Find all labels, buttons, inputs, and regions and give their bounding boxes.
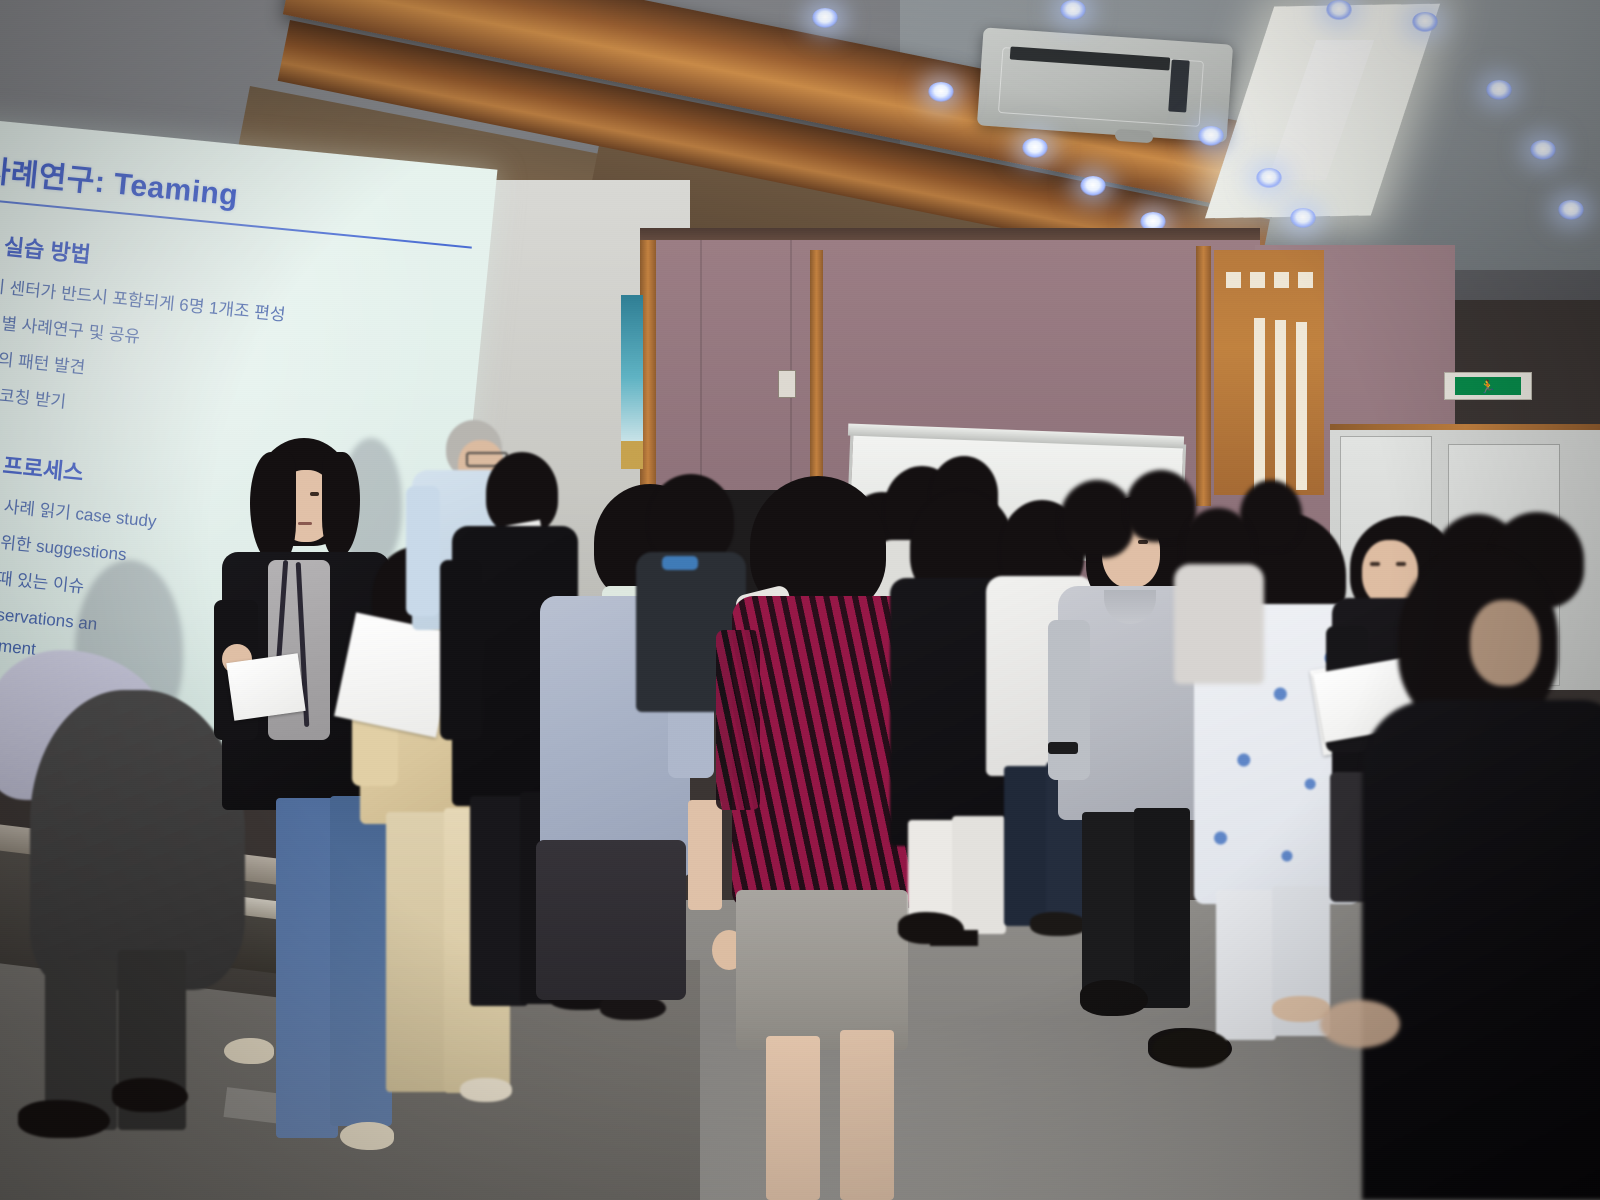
person-mouth	[298, 522, 312, 525]
ceiling-downlight-icon	[1412, 12, 1438, 32]
shoe-heel	[930, 930, 978, 946]
person-trousers	[30, 690, 245, 990]
person-arm	[406, 486, 440, 616]
person-trousers	[1216, 890, 1276, 1040]
person-eye	[1396, 562, 1406, 566]
person-hair	[1060, 480, 1134, 558]
person-leg	[688, 800, 722, 910]
person-trousers	[1134, 808, 1190, 1008]
ceiling-downlight-icon	[1080, 176, 1106, 196]
exit-sign: 🏃	[1444, 372, 1532, 400]
running-man-icon: 🏃	[1480, 380, 1496, 393]
ceiling-downlight-icon	[812, 8, 838, 28]
person-trousers	[386, 812, 448, 1092]
wall-switch-panel[interactable]	[778, 370, 796, 398]
wall-wood-trim-right	[1196, 246, 1211, 506]
person-torso	[1174, 564, 1264, 684]
ceiling-downlight-icon	[928, 82, 954, 102]
person-face	[1470, 600, 1540, 686]
person-jeans	[330, 796, 392, 1126]
ceiling-downlight-icon	[1256, 168, 1282, 188]
handout-paper	[226, 653, 305, 720]
wood-panel-bar	[1275, 320, 1286, 492]
person-shoe	[460, 1078, 512, 1102]
wood-panel-bar	[1296, 322, 1307, 490]
person-leg	[766, 1036, 820, 1200]
teal-banner	[621, 295, 643, 445]
wood-panel-bar	[1254, 318, 1265, 494]
ceiling-downlight-icon	[1022, 138, 1048, 158]
lanyard-icon	[662, 556, 698, 570]
person-leg	[840, 1030, 894, 1200]
person-arm	[440, 560, 482, 740]
person-arm	[1048, 620, 1090, 780]
teal-banner-bottom	[621, 441, 643, 469]
person-shoe	[1080, 980, 1148, 1016]
person-hair	[486, 452, 558, 534]
ceiling-downlight-icon	[1060, 0, 1086, 20]
wood-panel-square	[1250, 272, 1265, 288]
photo-scene: 🏃 사례연구: Teaming 청 실습 방법 가지 센터가 반드시 포함되게 …	[0, 0, 1600, 1200]
person-hand	[1320, 1000, 1400, 1048]
person-skirt	[736, 890, 908, 1050]
exit-sign-green-field: 🏃	[1455, 377, 1521, 395]
person-jeans	[276, 798, 338, 1138]
person-arm	[716, 630, 760, 810]
person-eye	[310, 492, 319, 496]
person-shoe	[340, 1122, 394, 1150]
wood-panel-square	[1226, 272, 1241, 288]
ceiling-downlight-icon	[1290, 208, 1316, 228]
person-jeans	[1004, 766, 1052, 926]
person-shoe	[112, 1078, 188, 1112]
wood-panel-square	[1274, 272, 1289, 288]
wristwatch-icon	[1048, 742, 1078, 754]
person-hair	[648, 474, 734, 564]
person-shoe	[1030, 912, 1088, 936]
ceiling-downlight-icon	[1558, 200, 1584, 220]
person-shoe	[18, 1100, 110, 1138]
ceiling-downlight-icon	[1530, 140, 1556, 160]
ceiling-downlight-icon	[1486, 80, 1512, 100]
person-shoe	[1152, 1030, 1228, 1068]
ceiling-downlight-icon	[1326, 0, 1352, 20]
ac-side-grill-icon	[1168, 59, 1190, 112]
wood-panel-square	[1298, 272, 1313, 288]
ceiling-downlight-icon	[1198, 126, 1224, 146]
person-trousers	[952, 816, 1006, 934]
ac-sensor-icon	[1115, 129, 1154, 144]
person-torso	[1362, 700, 1600, 1200]
person-shoe	[224, 1038, 274, 1064]
person-skirt	[536, 840, 686, 1000]
person-hair-side	[250, 452, 296, 564]
person-eye	[1370, 562, 1380, 566]
